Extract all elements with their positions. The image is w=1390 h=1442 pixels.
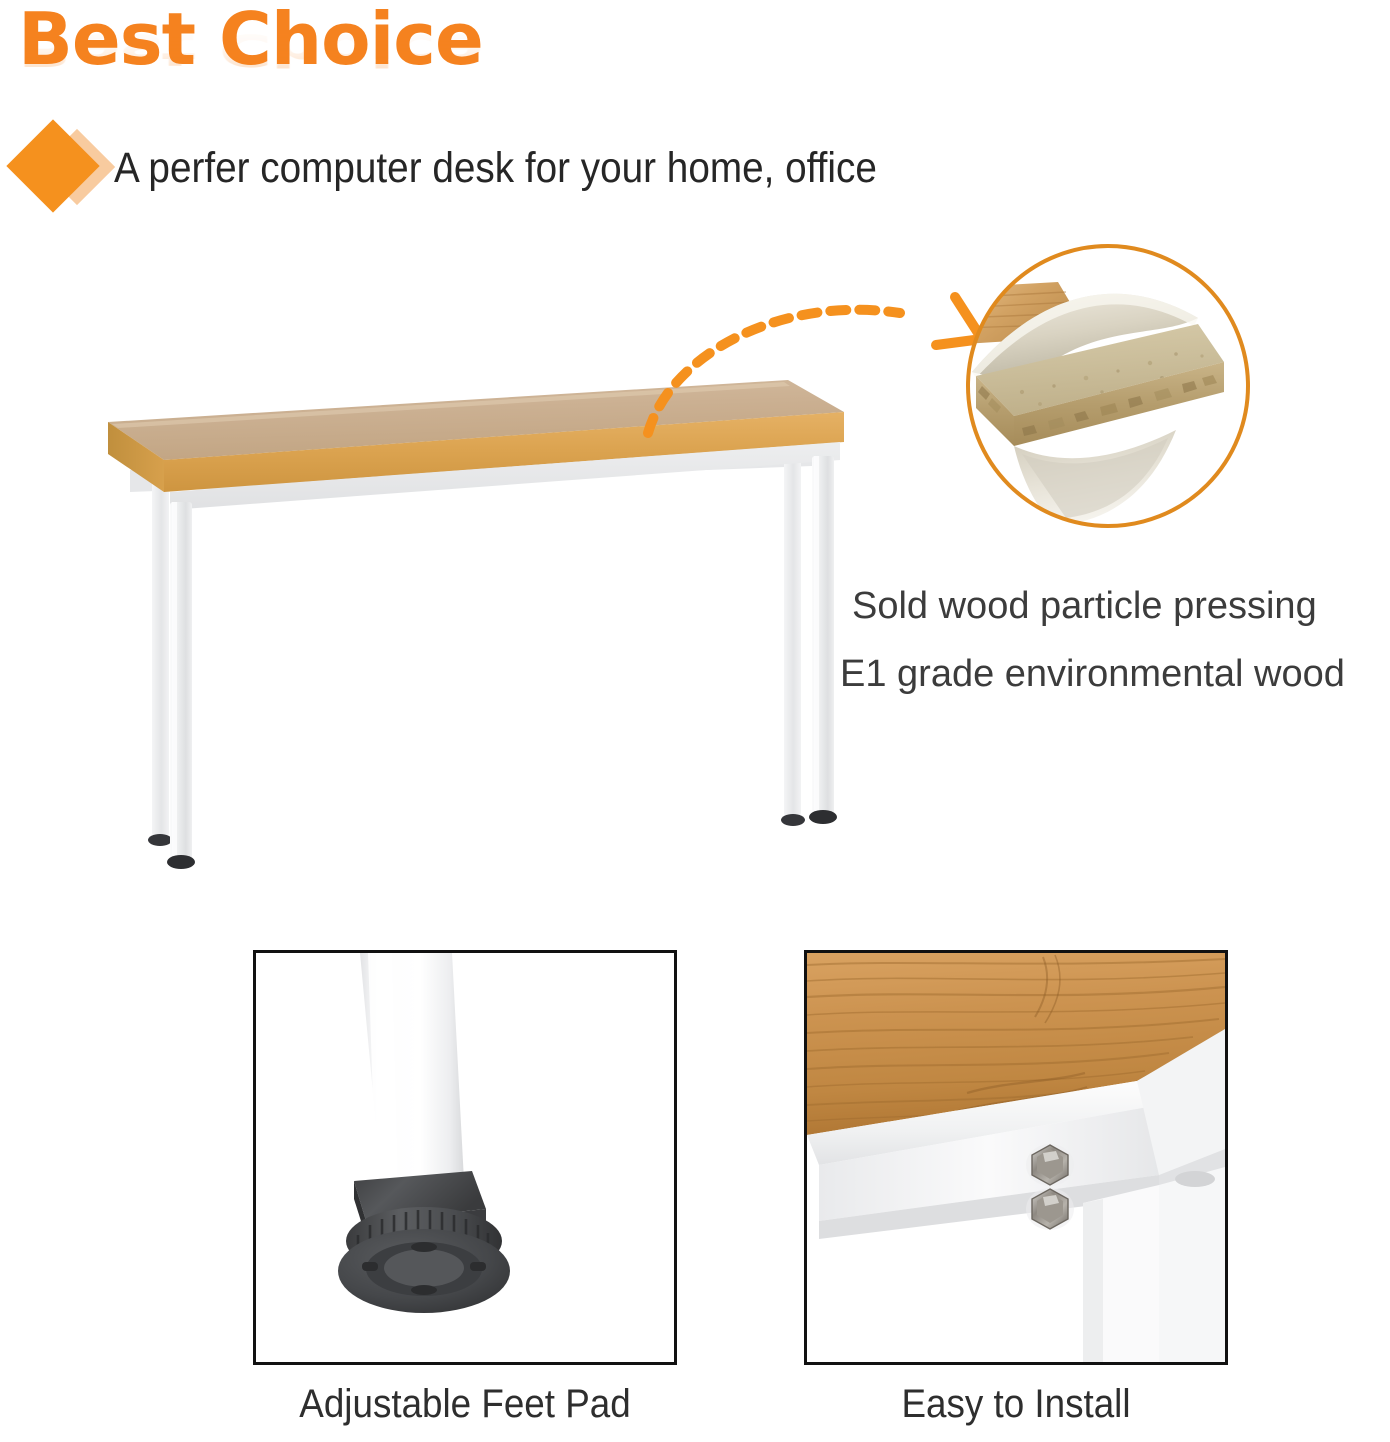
hex-bolt-upper — [1026, 1144, 1074, 1186]
material-line-1: Sold wood particle pressing — [840, 572, 1390, 640]
page-title: Best Choice — [18, 0, 1118, 78]
page-subtitle: A perfer computer desk for your home, of… — [114, 143, 877, 193]
desk-leg-post-right — [1159, 1167, 1225, 1362]
panel-caption-right: Easy to Install — [821, 1381, 1211, 1427]
desk-foot-front-right — [809, 810, 837, 824]
desk-leg-back-right — [784, 456, 801, 816]
headline-block: Best Choice Best Choice — [18, 0, 1118, 120]
material-closeup-circle-icon — [962, 240, 1254, 532]
desk-leg-front-left — [170, 502, 192, 860]
material-line-2: E1 grade environmental wood — [840, 640, 1390, 708]
subtitle-row: A perfer computer desk for your home, of… — [10, 118, 1270, 218]
desk-foot-front-left — [167, 855, 195, 869]
feature-panel-easy-to-install: Easy to Install — [804, 950, 1228, 1427]
adjustable-feet-pad-photo — [253, 950, 677, 1365]
feet-pad-center-disc — [384, 1249, 464, 1287]
desk-leg-post-shade — [1083, 1199, 1103, 1362]
desk-foot-back-right — [781, 814, 805, 826]
curved-dashed-arrow-icon — [600, 285, 1020, 465]
feature-panels: Adjustable Feet Pad — [0, 950, 1390, 1442]
panel-caption-left: Adjustable Feet Pad — [270, 1381, 660, 1427]
arrow-dashed-path — [648, 310, 900, 433]
desk-leg-front-right — [812, 456, 834, 814]
product-infographic: Best Choice Best Choice A perfer compute… — [0, 0, 1390, 1442]
desk-underside-bolts-photo — [804, 950, 1228, 1365]
diamond-bullet-front-icon — [6, 119, 99, 212]
screw-hole-oval — [1175, 1171, 1215, 1187]
desk-leg-back-left — [152, 476, 169, 836]
feature-panel-adjustable-feet-pad: Adjustable Feet Pad — [253, 950, 677, 1427]
material-description: Sold wood particle pressing E1 grade env… — [840, 572, 1390, 708]
hex-bolt-lower — [1026, 1188, 1074, 1230]
diamond-bullet-icon — [10, 120, 106, 216]
desk-foot-back-left — [148, 834, 172, 846]
